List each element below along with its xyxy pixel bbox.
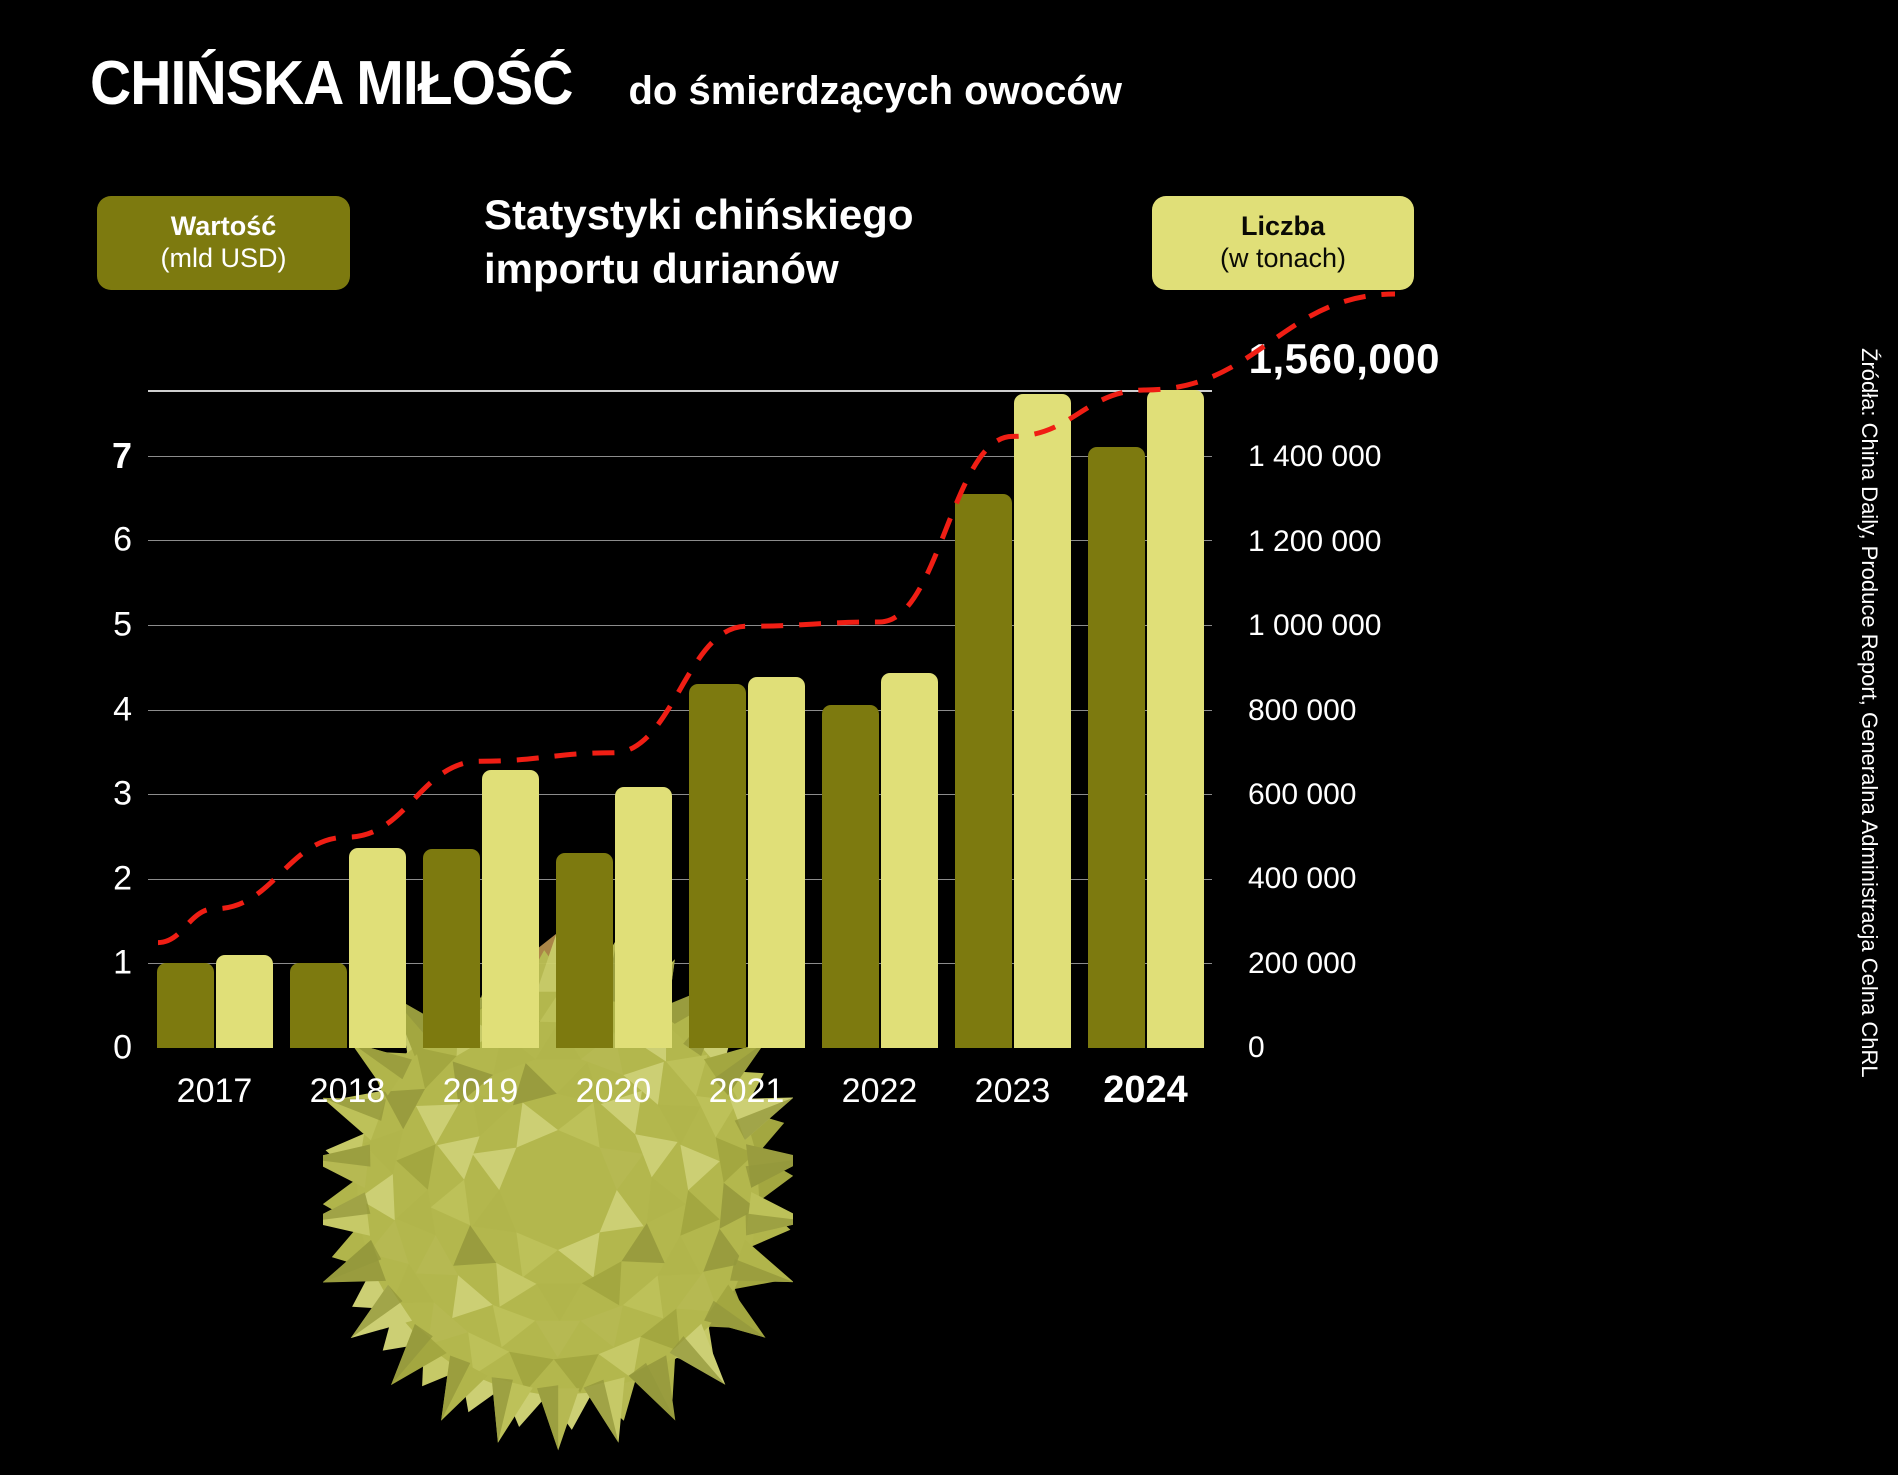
bar-value-2018 (290, 963, 347, 1048)
source-note: Źródła: China Daily, Produce Report, Gen… (1856, 0, 1882, 1425)
bar-quantity-2022 (881, 673, 938, 1048)
legend-value-unit: (mld USD) (161, 243, 287, 275)
legend-quantity-unit: (w tonach) (1220, 243, 1346, 275)
x-axis-tick-2022: 2022 (842, 1072, 918, 1111)
chart-subtitle: Statystyki chińskiego importu durianów (484, 188, 1044, 296)
bar-quantity-2019 (482, 770, 539, 1048)
bar-value-2021 (689, 684, 746, 1048)
legend-chip-quantity: Liczba (w tonach) (1152, 196, 1414, 290)
y-axis-left-tick: 6 (113, 521, 132, 560)
legend-quantity-label: Liczba (1241, 211, 1325, 243)
x-axis-tick-2023: 2023 (975, 1072, 1051, 1111)
source-text: Źródła: China Daily, Produce Report, Gen… (1856, 348, 1882, 1078)
x-axis-tick-2024: 2024 (1103, 1069, 1188, 1112)
bar-value-2023 (955, 494, 1012, 1048)
y-axis-left: 76543210 (80, 390, 132, 1048)
x-axis: 20172018201920202021202220232024 (148, 1072, 1212, 1132)
y-axis-right-tick: 200 000 (1248, 947, 1356, 981)
bar-quantity-2018 (349, 848, 406, 1048)
y-axis-right: 1 400 0001 200 0001 000 000800 000600 00… (1248, 390, 1428, 1048)
y-axis-right-tick: 1 400 000 (1248, 440, 1381, 474)
infographic-root: CHIŃSKA MIŁOŚĆdo śmierdzących owoców War… (0, 0, 1898, 1425)
bar-value-2020 (556, 853, 613, 1048)
x-axis-tick-2021: 2021 (709, 1072, 785, 1111)
x-axis-tick-2017: 2017 (177, 1072, 253, 1111)
y-axis-right-tick: 400 000 (1248, 862, 1356, 896)
y-axis-left-tick: 4 (113, 690, 132, 729)
peak-value-annotation: 1,560,000 (1249, 335, 1440, 383)
bar-value-2019 (423, 849, 480, 1048)
x-axis-tick-2018: 2018 (310, 1072, 386, 1111)
page-title: CHIŃSKA MIŁOŚĆdo śmierdzących owoców (90, 48, 1122, 119)
y-axis-right-tick: 800 000 (1248, 694, 1356, 728)
x-axis-tick-2020: 2020 (576, 1072, 652, 1111)
title-main: CHIŃSKA MIŁOŚĆ (90, 48, 573, 119)
plot-area (148, 390, 1212, 1048)
bar-quantity-2021 (748, 677, 805, 1048)
legend-value-label: Wartość (171, 211, 277, 243)
bar-quantity-2017 (216, 955, 273, 1048)
x-axis-tick-2019: 2019 (443, 1072, 519, 1111)
y-axis-left-tick: 3 (113, 775, 132, 814)
y-axis-right-tick: 1 200 000 (1248, 525, 1381, 559)
y-axis-left-tick: 5 (113, 606, 132, 645)
y-axis-right-tick: 1 000 000 (1248, 609, 1381, 643)
y-axis-left-tick: 7 (112, 435, 132, 477)
bar-value-2022 (822, 705, 879, 1048)
bar-value-2017 (157, 963, 214, 1048)
title-subtitle: do śmierdzących owoców (628, 69, 1121, 114)
bar-quantity-2024 (1147, 390, 1204, 1048)
y-axis-right-tick: 600 000 (1248, 778, 1356, 812)
y-axis-left-tick: 2 (113, 859, 132, 898)
y-axis-right-tick: 0 (1248, 1031, 1265, 1065)
legend-chip-value: Wartość (mld USD) (97, 196, 350, 290)
bar-value-2024 (1088, 447, 1145, 1048)
bar-quantity-2020 (615, 787, 672, 1049)
peak-rule (148, 390, 1212, 392)
y-axis-left-tick: 0 (113, 1029, 132, 1068)
y-axis-left-tick: 1 (113, 944, 132, 983)
bar-quantity-2023 (1014, 394, 1071, 1048)
